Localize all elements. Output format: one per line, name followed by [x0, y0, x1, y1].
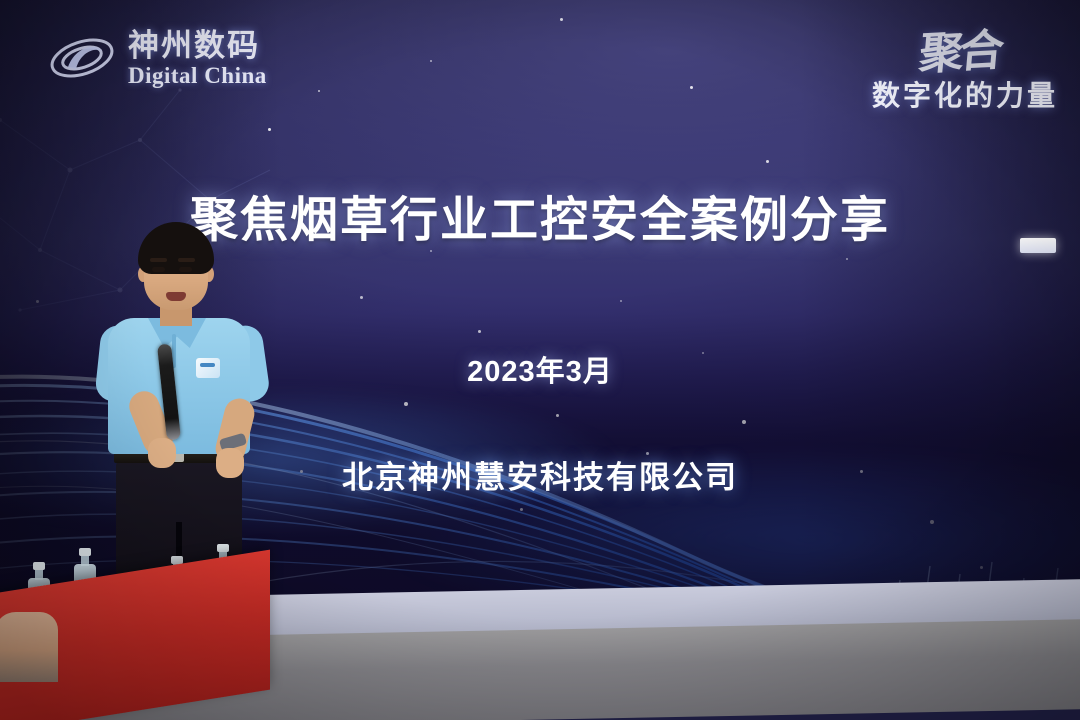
speaker-eyebrow-left — [150, 258, 167, 262]
digital-china-logo: 神州数码 Digital China — [46, 22, 316, 94]
speaker-mouth — [166, 292, 186, 301]
event-brand-calligraphy: 聚合 — [917, 14, 1003, 82]
speaker-hand-left — [148, 438, 176, 468]
speaker-eyebrow-right — [178, 258, 195, 262]
logo-english-text: Digital China — [128, 64, 267, 87]
spiral-swoosh-icon — [46, 27, 118, 89]
event-brand: 聚合 数字化的力量 — [788, 16, 1058, 116]
screen-edge-highlight — [1020, 238, 1056, 253]
speaker-hair — [138, 222, 214, 274]
speaker-eye-left — [152, 267, 165, 272]
speaker-hand-right — [216, 448, 244, 478]
speaker-eye-right — [179, 267, 192, 272]
speaker-chest-logo-icon — [196, 358, 220, 378]
conference-photo: 神州数码 Digital China 聚合 数字化的力量 聚焦烟草行业工控安全案… — [0, 0, 1080, 720]
logo-chinese-text: 神州数码 — [128, 30, 267, 61]
seated-attendee — [0, 612, 58, 682]
